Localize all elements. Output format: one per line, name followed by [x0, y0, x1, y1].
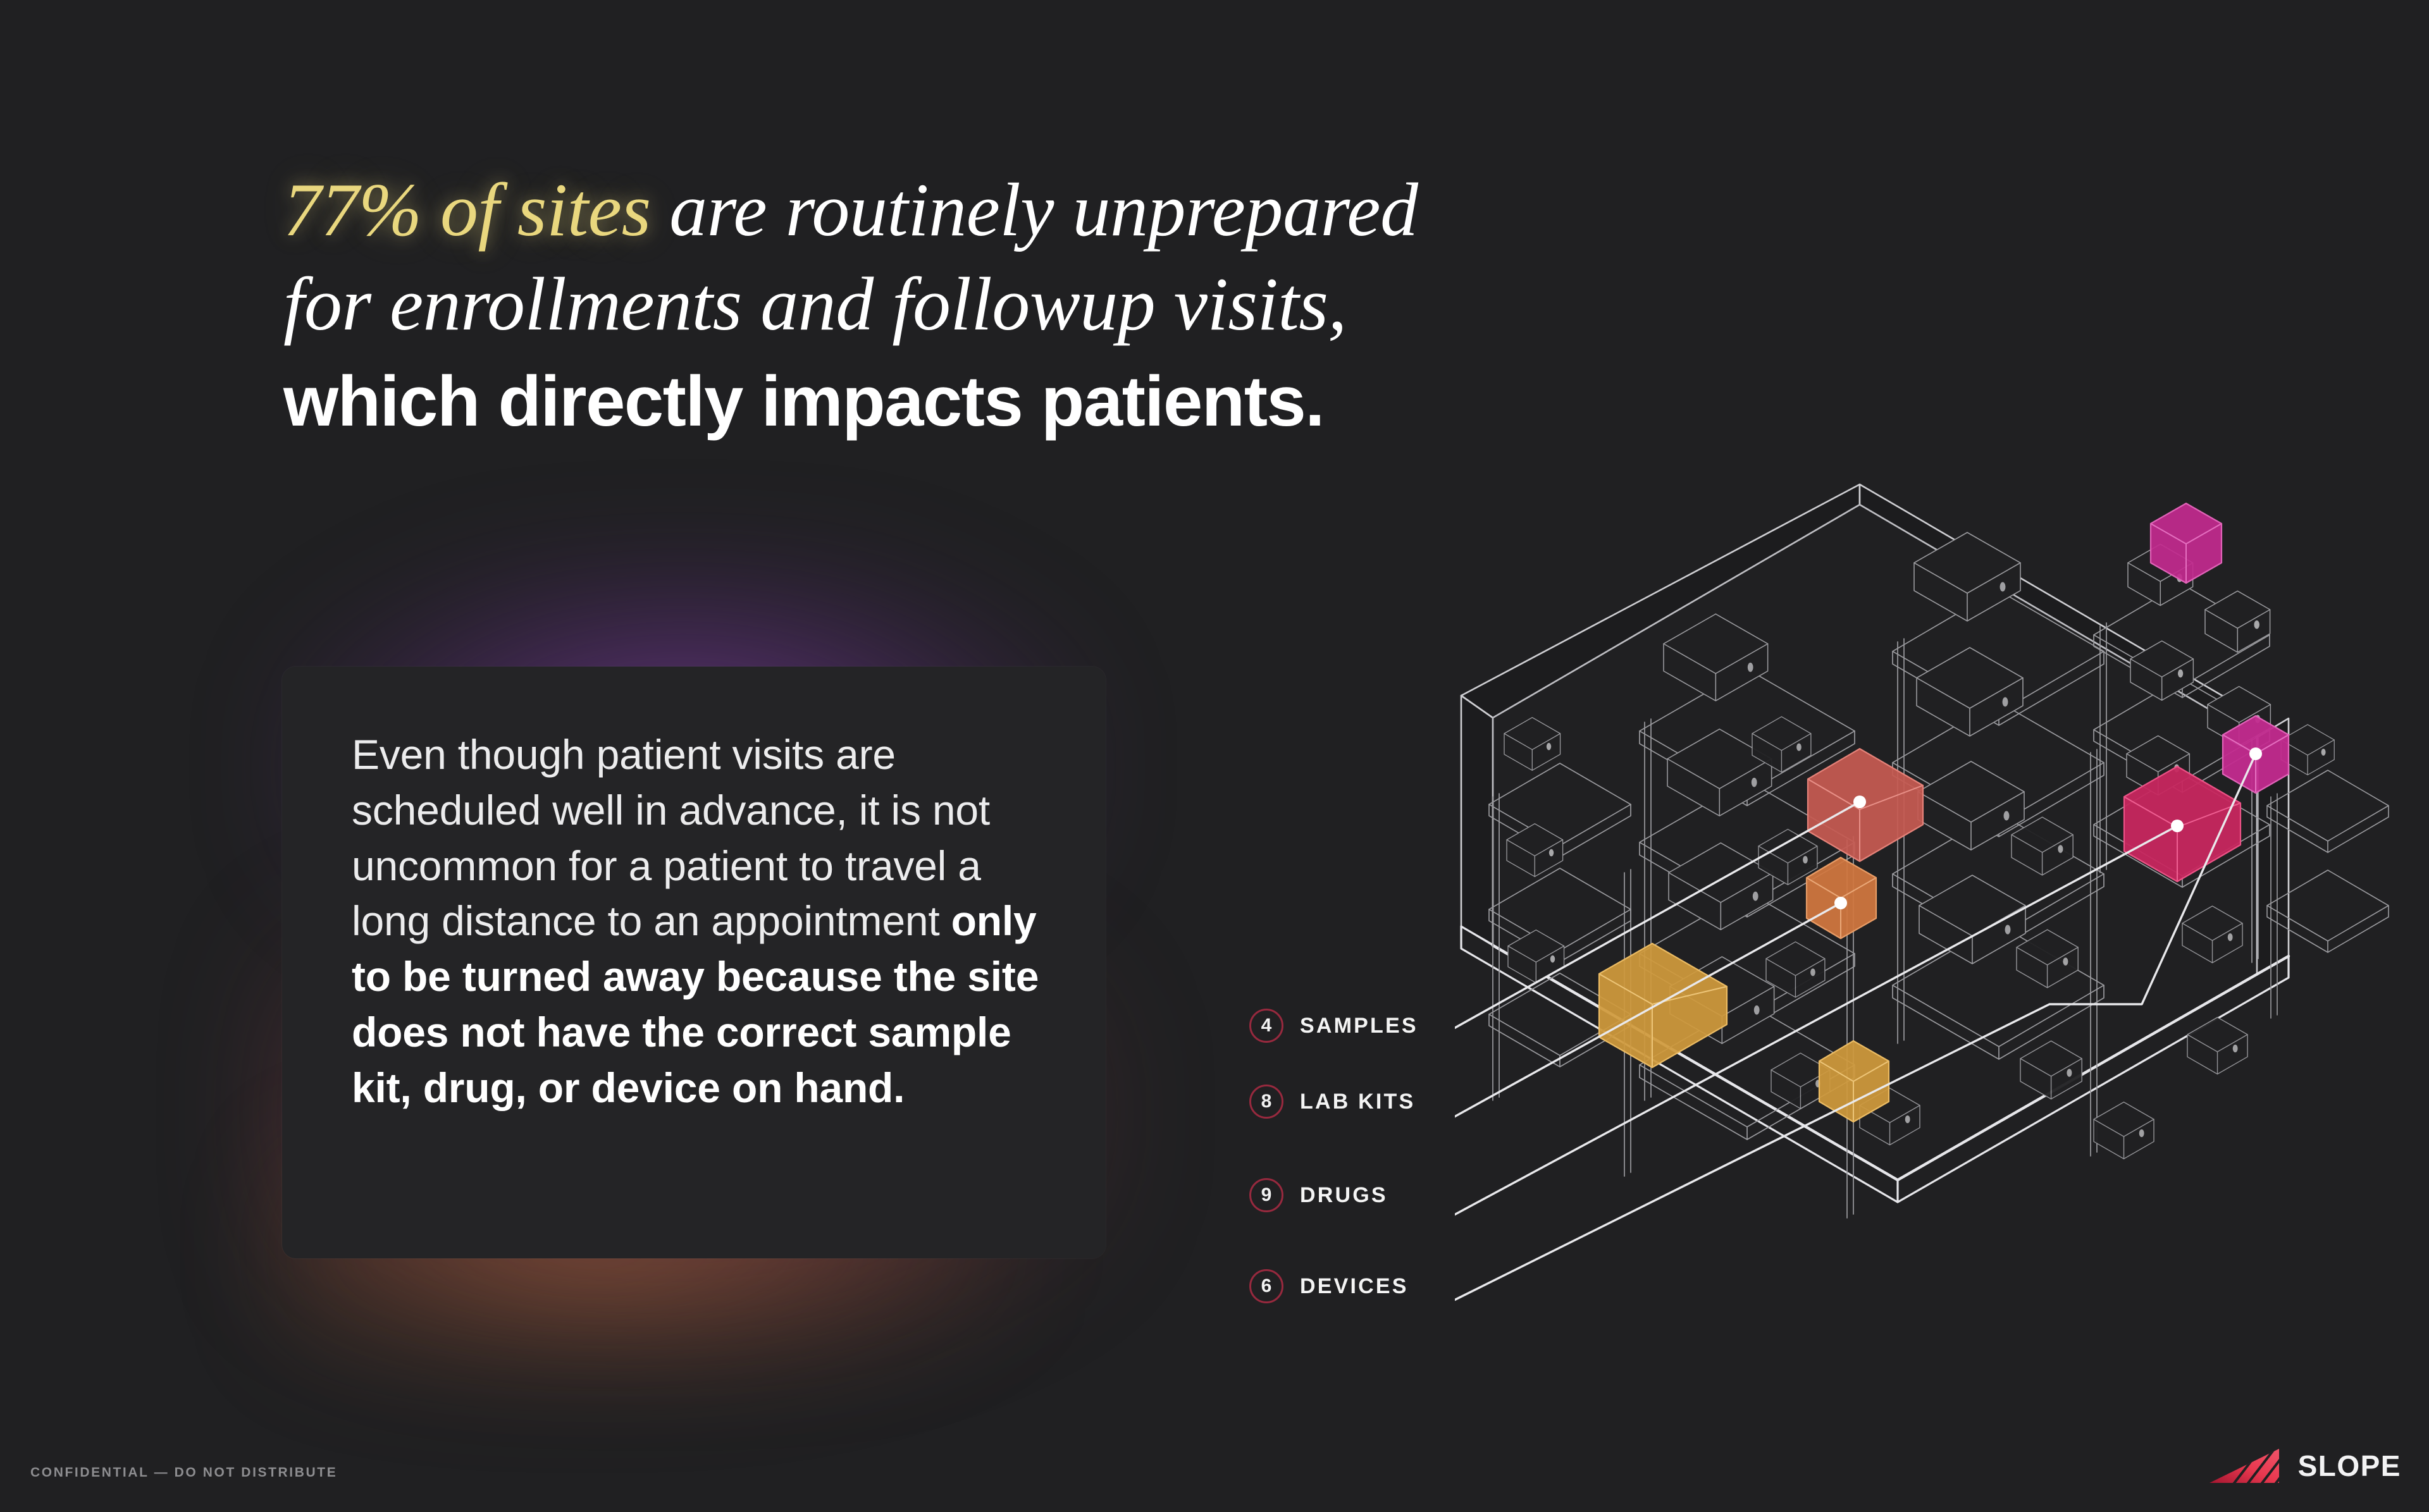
legend-label: LAB KITS — [1300, 1090, 1415, 1114]
headline-accent-stat: 77% of sites — [283, 168, 651, 252]
warehouse-illustration — [1455, 354, 2429, 1467]
headline-line-1: 77% of sites are routinely unprepared — [283, 163, 1770, 257]
legend-label: DEVICES — [1300, 1274, 1409, 1299]
highlight-box-amber-long — [1599, 943, 1727, 1067]
legend-count-badge: 8 — [1249, 1085, 1283, 1119]
legend-count-badge: 4 — [1249, 1009, 1283, 1043]
legend-label: DRUGS — [1300, 1183, 1388, 1208]
legend-item-devices[interactable]: 6 DEVICES — [1249, 1269, 1409, 1304]
body-paragraph: Even though patient visits are scheduled… — [352, 727, 1051, 1116]
brand-logo: SLOPE — [2206, 1446, 2401, 1485]
legend-item-lab-kits[interactable]: 8 LAB KITS — [1249, 1084, 1415, 1119]
highlight-box-salmon — [1808, 749, 1923, 861]
headline-line-2: for enrollments and followup visits, — [283, 257, 1770, 352]
legend-count-badge: 9 — [1249, 1178, 1283, 1212]
slide-root: 77% of sites are routinely unprepared fo… — [0, 0, 2429, 1512]
body-paragraph-plain: Even though patient visits are scheduled… — [352, 731, 990, 944]
body-text-card: Even though patient visits are scheduled… — [282, 667, 1106, 1258]
brand-wordmark: SLOPE — [2298, 1449, 2401, 1483]
legend-count-badge: 6 — [1249, 1269, 1283, 1303]
legend-item-samples[interactable]: 4 SAMPLES — [1249, 1008, 1418, 1043]
slope-mark-icon — [2206, 1446, 2287, 1485]
headline-line-1-rest: are routinely unprepared — [651, 168, 1418, 252]
confidentiality-notice: CONFIDENTIAL — DO NOT DISTRIBUTE — [30, 1465, 337, 1480]
legend-label: SAMPLES — [1300, 1014, 1418, 1038]
legend-item-drugs[interactable]: 9 DRUGS — [1249, 1177, 1388, 1213]
